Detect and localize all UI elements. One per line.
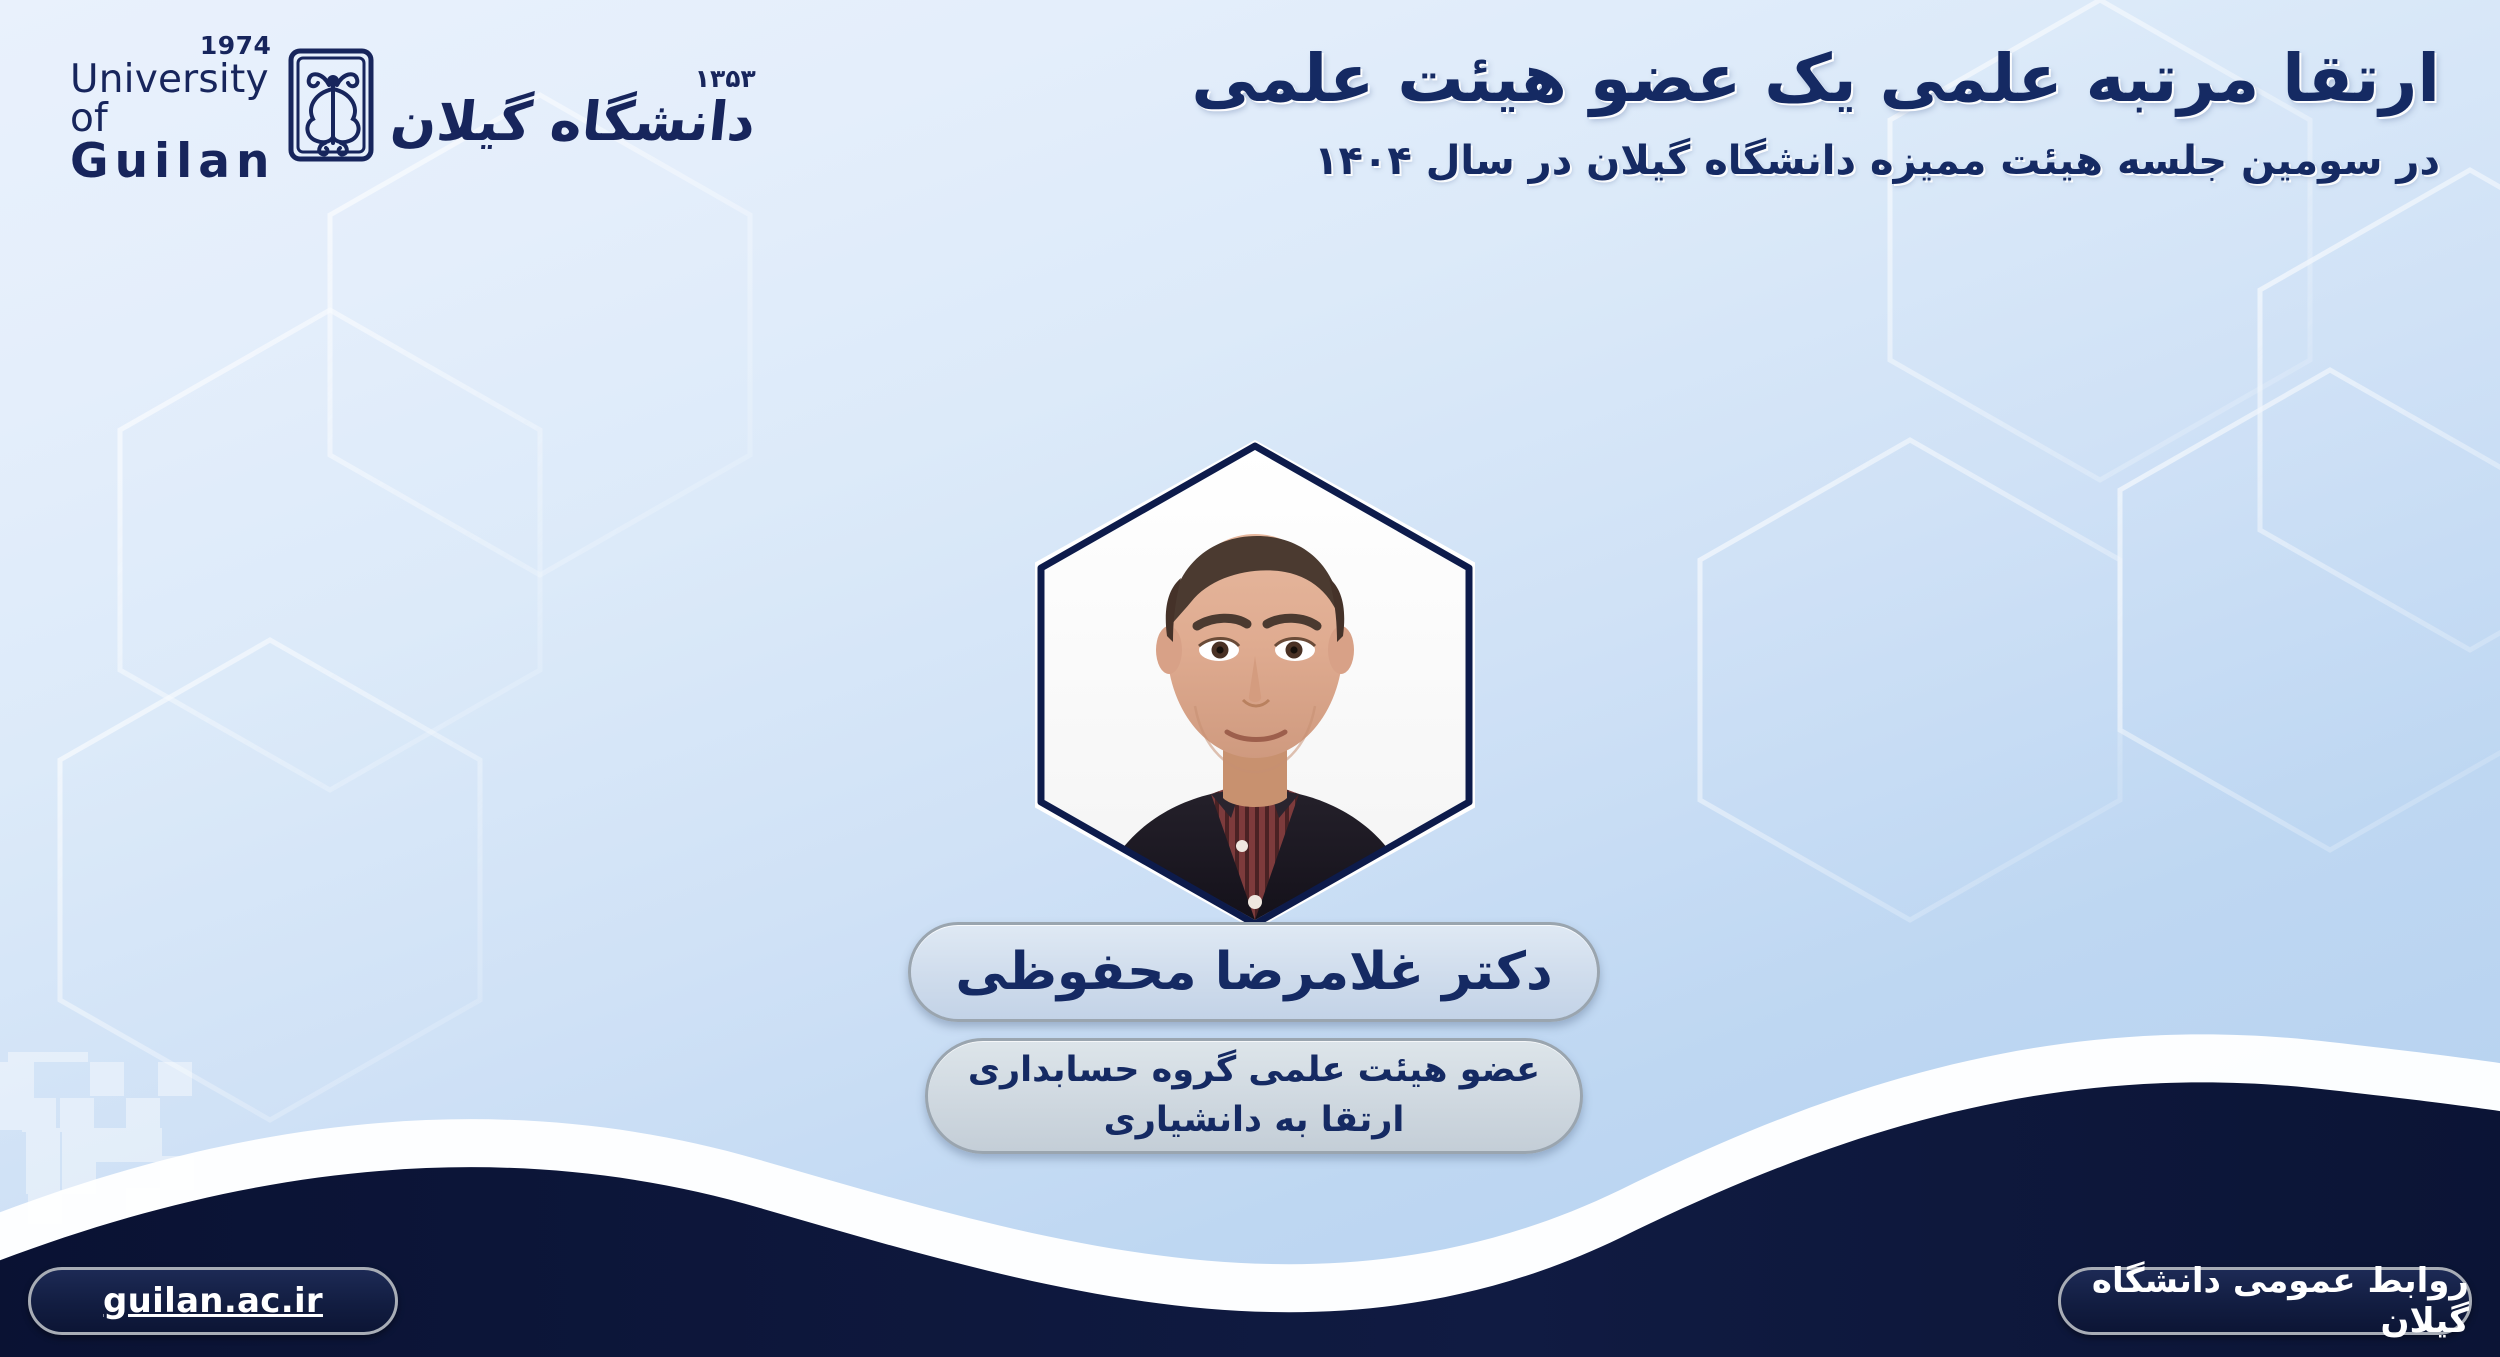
public-relations-label: روابط عمومی دانشگاه گیلان xyxy=(2061,1261,2469,1341)
logo-founding-year-en: 1974 xyxy=(200,33,272,58)
logo-guilan-label: Guilan xyxy=(70,138,275,185)
guilan-university-emblem-icon xyxy=(285,45,381,167)
person-name-badge: دکتر غلامرضا محفوظی xyxy=(908,922,1600,1022)
pixel-squares-left xyxy=(0,1052,194,1224)
person-role-badge: عضو هیئت علمی گروه حسابداری ارتقا به دان… xyxy=(925,1038,1583,1154)
website-url: guilan.ac.ir xyxy=(103,1281,323,1321)
portrait-illustration xyxy=(1045,450,1465,920)
university-logo: 1974 University of Guilan xyxy=(70,34,540,184)
headline-block: ارتقا مرتبه علمی یک عضو هیئت علمی در سوم… xyxy=(1191,38,2440,187)
logo-university-name-fa: دانشگاه گیلان xyxy=(389,95,759,149)
logo-english-text: 1974 University of Guilan xyxy=(70,33,275,185)
logo-founding-year-fa: ۱۳۵۳ xyxy=(695,66,756,91)
portrait-photo xyxy=(1045,450,1465,920)
website-badge[interactable]: guilan.ac.ir xyxy=(28,1267,398,1335)
page-subtitle: در سومین جلسه هیئت ممیزه دانشگاه گیلان د… xyxy=(1191,135,2440,187)
portrait-frame xyxy=(1035,440,1475,930)
hexagon-photo-mask xyxy=(1035,440,1475,930)
public-relations-badge: روابط عمومی دانشگاه گیلان xyxy=(2058,1267,2472,1335)
logo-university-of-label: University of xyxy=(70,60,275,138)
person-role-line-1: عضو هیئت علمی گروه حسابداری xyxy=(968,1046,1540,1096)
logo-persian-text: ۱۳۵۳ دانشگاه گیلان xyxy=(391,66,755,149)
person-name: دکتر غلامرضا محفوظی xyxy=(955,942,1552,1002)
promotion-announcement-poster: 1974 University of Guilan xyxy=(0,0,2500,1357)
poster-header: 1974 University of Guilan xyxy=(0,0,2500,215)
person-role-line-2: ارتقا به دانشیاری xyxy=(1104,1096,1405,1146)
page-title: ارتقا مرتبه علمی یک عضو هیئت علمی xyxy=(1191,38,2440,121)
